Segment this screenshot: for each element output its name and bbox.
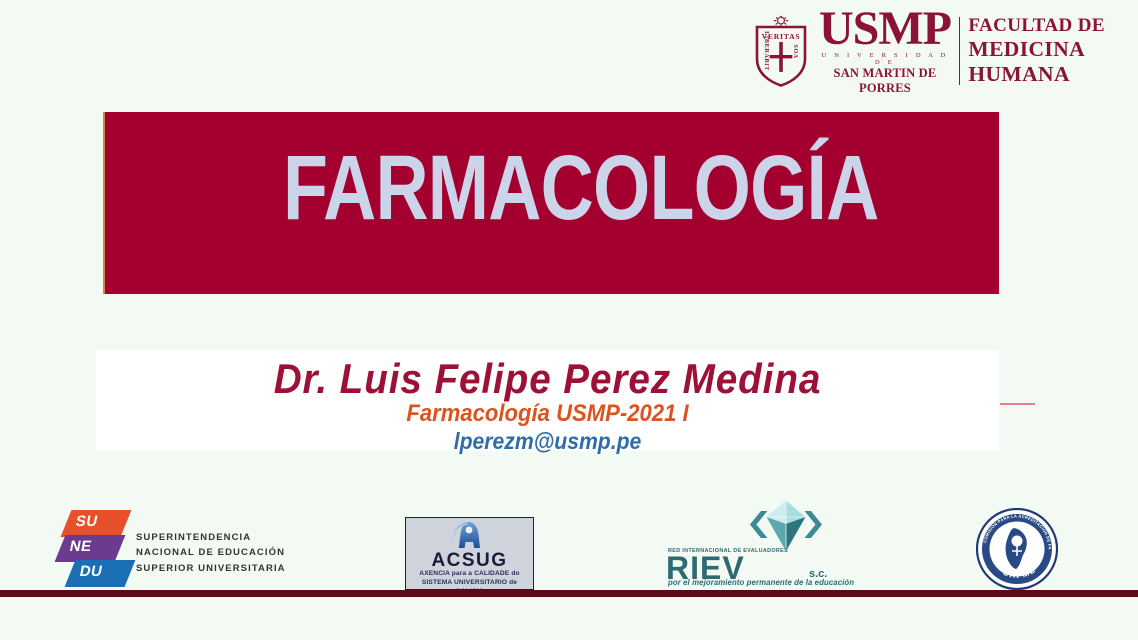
acsug-logo: ACSUG AXENCIA para a CALIDADE do SISTEMA… [405,517,534,590]
riev-gem-icon [744,498,828,554]
acsug-subtitle-line-2: SISTEMA UNIVERSITARIO de [408,579,531,588]
usmp-faculty-line-2: MEDICINA HUMANA [968,37,1124,87]
usmp-wordmark: USMP U N I V E R S I D A D D E SAN MARTI… [819,15,1124,87]
sunedu-block-su: SU [61,510,132,537]
sunedu-block-su-label: SU [74,513,99,530]
presenter-course: Farmacología USMP-2021 I [132,402,963,426]
accent-rule [1000,403,1035,405]
sunedu-name-line-1: SUPERINTENDENCIA [136,530,286,545]
usmp-acronym: USMP [819,6,951,52]
cafme-seal-icon: COMISION PARA LA ACREDITACION DE FACULTA… [976,508,1058,590]
sunedu-logo: SU NE DU SUPERINTENDENCIA NACIONAL DE ED… [56,508,271,590]
acsug-emblem-icon [449,521,491,551]
sunedu-blocks-icon: SU NE DU [56,508,134,590]
presenter-name: Dr. Luis Felipe Perez Medina [132,358,963,400]
usmp-faculty-line-1: FACULTAD DE [968,15,1124,37]
presenter-email[interactable]: lperezm@usmp.pe [132,430,963,453]
riev-tagline: por el mejoramiento permanente de la edu… [668,578,854,587]
sunedu-block-du-label: DU [78,563,104,580]
sunedu-name-line-2: NACIONAL DE EDUCACIÓN [136,545,286,560]
sunedu-name-line-3: SUPERIOR UNIVERSITARIA [136,561,286,576]
usmp-shield-icon: VERITAS LIBERABIT VOS [752,15,810,87]
svg-text:LIBERABIT: LIBERABIT [763,31,770,71]
acsug-acronym: ACSUG [406,551,533,570]
acsug-subtitle: AXENCIA para a CALIDADE do SISTEMA UNIVE… [408,570,531,590]
usmp-university-label: U N I V E R S I D A D D E [819,52,951,66]
sunedu-block-ne-label: NE [68,538,93,555]
usmp-university-name: SAN MARTIN DE PORRES [819,66,951,96]
acsug-subtitle-line-1: AXENCIA para a CALIDADE do [408,570,531,579]
riev-logo: RED INTERNACIONAL DE EVALUADORES RIEV s.… [666,498,841,586]
page-title: FARMACOLOGÍA [283,142,879,234]
usmp-logo-divider [959,17,960,85]
sunedu-block-du: DU [65,560,136,587]
sunedu-name: SUPERINTENDENCIA NACIONAL DE EDUCACIÓN S… [136,530,286,576]
title-banner: FARMACOLOGÍA [103,112,999,294]
sunedu-block-ne: NE [55,535,126,562]
footer-bar [0,590,1138,597]
svg-text:VOS: VOS [793,44,800,58]
presentation-slide: VERITAS LIBERABIT VOS USMP U N I V E R S… [0,0,1138,640]
cafme-logo: COMISION PARA LA ACREDITACION DE FACULTA… [976,508,1058,590]
presenter-card: Dr. Luis Felipe Perez Medina Farmacologí… [96,350,999,451]
usmp-institution-logo: VERITAS LIBERABIT VOS USMP U N I V E R S… [752,12,1124,90]
